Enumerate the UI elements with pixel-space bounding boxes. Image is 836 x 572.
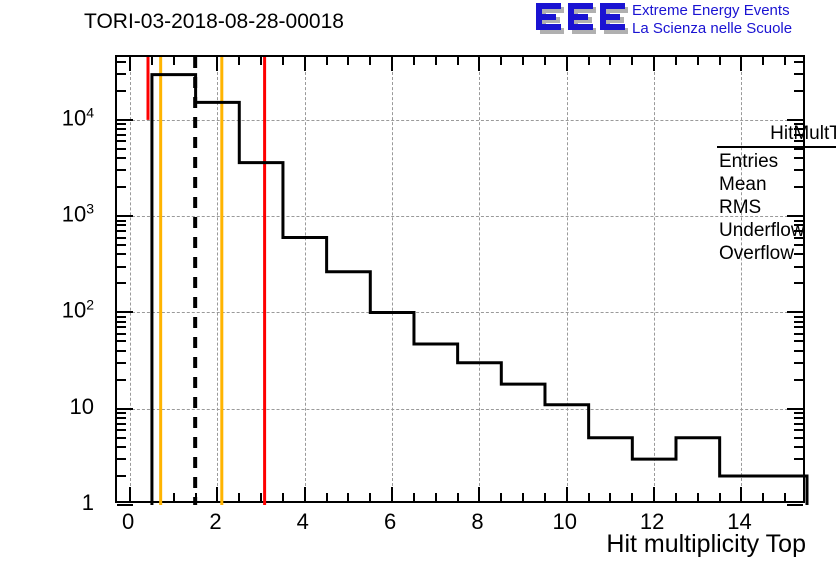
y-tick-minor <box>117 362 126 364</box>
y-tick-minor <box>794 326 803 328</box>
x-tick <box>129 487 131 501</box>
eee-logo-text: Extreme Energy Events La Scienza nelle S… <box>632 2 792 38</box>
x-tick <box>631 57 633 65</box>
x-tick <box>719 493 721 501</box>
y-tick <box>117 119 133 121</box>
x-tick <box>216 57 218 71</box>
x-tick <box>151 57 153 65</box>
stats-key: Entries <box>719 150 778 173</box>
x-tick <box>500 493 502 501</box>
x-tick <box>653 57 655 71</box>
y-tick-minor <box>117 333 126 335</box>
y-tick-minor <box>117 321 126 323</box>
y-tick-minor <box>117 123 126 125</box>
y-tick-minor <box>117 244 126 246</box>
root-canvas: TORI-03-2018-08-28-00018 Extreme Energy … <box>0 0 836 572</box>
x-tick <box>631 493 633 501</box>
stats-key: Underflow <box>719 219 805 242</box>
y-tick-minor <box>117 412 126 414</box>
eee-logo: Extreme Energy Events La Scienza nelle S… <box>536 3 832 39</box>
x-tick <box>238 493 240 501</box>
y-tick-minor <box>794 429 803 431</box>
y-tick-minor <box>794 282 803 284</box>
x-tick <box>675 57 677 65</box>
eee-letter-3 <box>600 3 628 35</box>
x-tick <box>457 57 459 65</box>
stats-rows: Entries48138Mean1.525RMS0.8333Underflow0… <box>717 150 836 265</box>
stats-row: RMS0.8333 <box>717 196 836 219</box>
y-tick-minor <box>794 412 803 414</box>
y-tick-minor <box>117 220 126 222</box>
plot-frame: HitMultTop Entries48138Mean1.525RMS0.833… <box>115 55 805 503</box>
x-tick <box>653 487 655 501</box>
y-tick-label: 102 <box>0 297 94 324</box>
y-tick <box>117 215 133 217</box>
x-tick <box>697 57 699 65</box>
y-tick-minor <box>794 379 803 381</box>
y-tick-minor <box>117 340 126 342</box>
x-tick <box>238 57 240 65</box>
marker-lines <box>148 57 265 505</box>
x-tick-label: 4 <box>297 509 309 535</box>
y-tick-minor <box>117 379 126 381</box>
x-tick <box>195 57 197 65</box>
y-tick-minor <box>794 446 803 448</box>
stats-divider <box>717 146 836 148</box>
y-tick-minor <box>117 350 126 352</box>
y-tick-minor <box>117 237 126 239</box>
x-tick <box>413 57 415 65</box>
x-tick <box>609 57 611 65</box>
y-tick-minor <box>117 437 126 439</box>
y-tick-minor <box>117 169 126 171</box>
stats-key: Mean <box>719 173 767 196</box>
x-tick <box>609 493 611 501</box>
y-tick <box>117 311 133 313</box>
y-tick-minor <box>117 157 126 159</box>
y-tick-minor <box>117 186 126 188</box>
y-tick-minor <box>794 316 803 318</box>
x-tick <box>675 493 677 501</box>
y-tick-minor <box>794 321 803 323</box>
eee-letter-2 <box>568 3 596 35</box>
y-tick <box>787 119 803 121</box>
y-tick-label: 1 <box>0 490 94 516</box>
x-tick <box>282 57 284 65</box>
histogram-outline <box>152 75 807 505</box>
y-tick <box>787 311 803 313</box>
stats-key: Overflow <box>719 242 794 265</box>
y-tick-minor <box>794 333 803 335</box>
x-tick <box>762 57 764 65</box>
y-tick-label: 104 <box>0 104 94 131</box>
y-tick-minor <box>117 134 126 136</box>
y-tick-minor <box>117 73 126 75</box>
x-tick <box>151 493 153 501</box>
y-tick-minor <box>117 224 126 226</box>
x-tick <box>282 493 284 501</box>
x-tick <box>326 57 328 65</box>
x-tick <box>195 493 197 501</box>
page-title: TORI-03-2018-08-28-00018 <box>84 10 344 34</box>
y-tick-minor <box>794 362 803 364</box>
stats-row: Entries48138 <box>717 150 836 173</box>
x-tick <box>588 493 590 501</box>
x-tick <box>478 487 480 501</box>
x-tick <box>500 57 502 65</box>
y-tick-minor <box>117 140 126 142</box>
y-tick-label: 103 <box>0 200 94 227</box>
y-tick-minor <box>117 230 126 232</box>
x-tick-label: 8 <box>471 509 483 535</box>
x-tick <box>435 57 437 65</box>
eee-tagline-1: Extreme Energy Events <box>632 2 792 20</box>
eee-tagline-2: La Scienza nelle Scuole <box>632 20 792 38</box>
y-tick-minor <box>117 423 126 425</box>
x-axis-title: Hit multiplicity Top <box>606 530 806 559</box>
y-tick-minor <box>794 475 803 477</box>
x-tick <box>326 493 328 501</box>
y-tick-minor <box>117 446 126 448</box>
x-tick <box>762 493 764 501</box>
x-tick <box>719 57 721 65</box>
y-tick <box>117 408 133 410</box>
x-tick <box>173 57 175 65</box>
x-tick <box>260 493 262 501</box>
x-tick <box>347 493 349 501</box>
y-tick-minor <box>117 458 126 460</box>
x-tick <box>413 493 415 501</box>
y-tick-minor <box>117 90 126 92</box>
y-tick-minor <box>794 417 803 419</box>
x-tick <box>522 57 524 65</box>
x-tick <box>129 57 131 71</box>
x-tick <box>784 493 786 501</box>
y-tick-minor <box>117 253 126 255</box>
y-tick-minor <box>794 423 803 425</box>
stats-row: Mean1.525 <box>717 173 836 196</box>
x-tick <box>740 57 742 71</box>
y-tick-minor <box>117 128 126 130</box>
x-tick <box>173 493 175 501</box>
y-tick-minor <box>117 148 126 150</box>
stats-title: HitMultTop <box>717 123 836 146</box>
y-tick-minor <box>794 73 803 75</box>
y-tick-minor <box>117 417 126 419</box>
x-tick <box>304 57 306 71</box>
x-tick <box>478 57 480 71</box>
stats-key: RMS <box>719 196 761 219</box>
y-tick-minor <box>117 326 126 328</box>
x-tick <box>369 57 371 65</box>
x-tick <box>457 493 459 501</box>
y-tick-minor <box>117 61 126 63</box>
y-tick-minor <box>117 266 126 268</box>
x-tick <box>391 487 393 501</box>
y-tick-minor <box>794 458 803 460</box>
x-tick <box>260 57 262 65</box>
x-tick <box>588 57 590 65</box>
x-tick <box>544 493 546 501</box>
x-tick <box>347 57 349 65</box>
y-tick-minor <box>794 266 803 268</box>
x-tick <box>566 57 568 71</box>
x-tick <box>391 57 393 71</box>
x-tick <box>740 487 742 501</box>
x-tick-label: 6 <box>384 509 396 535</box>
stats-row: Overflow5 <box>717 242 836 265</box>
y-tick-minor <box>117 429 126 431</box>
x-tick <box>697 493 699 501</box>
x-tick <box>566 487 568 501</box>
y-tick-minor <box>117 282 126 284</box>
x-tick-label: 2 <box>209 509 221 535</box>
y-tick <box>117 504 133 506</box>
y-tick-minor <box>794 437 803 439</box>
x-tick <box>304 487 306 501</box>
y-tick-minor <box>794 340 803 342</box>
y-tick-minor <box>794 90 803 92</box>
x-tick <box>544 57 546 65</box>
x-tick-label: 10 <box>553 509 577 535</box>
stats-box: HitMultTop Entries48138Mean1.525RMS0.833… <box>717 123 836 265</box>
y-tick <box>787 504 803 506</box>
eee-letter-1 <box>536 3 564 35</box>
x-tick-label: 0 <box>122 509 134 535</box>
x-tick <box>435 493 437 501</box>
x-tick <box>369 493 371 501</box>
eee-logo-mark <box>536 3 628 37</box>
y-tick-minor <box>794 350 803 352</box>
y-tick-minor <box>794 61 803 63</box>
histogram-plot <box>117 57 807 505</box>
y-tick-label: 10 <box>0 394 94 420</box>
y-tick <box>787 408 803 410</box>
y-tick-minor <box>117 316 126 318</box>
x-tick <box>522 493 524 501</box>
x-tick <box>216 487 218 501</box>
stats-row: Underflow0 <box>717 219 836 242</box>
x-tick <box>784 57 786 65</box>
y-tick-minor <box>117 475 126 477</box>
